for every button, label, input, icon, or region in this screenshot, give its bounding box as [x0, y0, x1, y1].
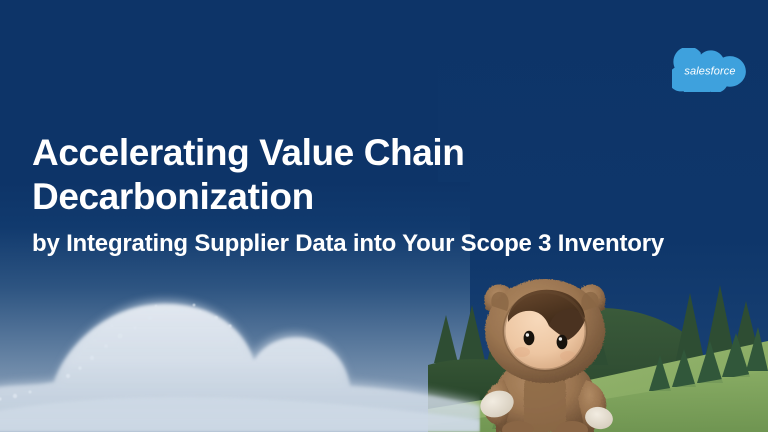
salesforce-wordmark: salesforce [684, 66, 735, 78]
page-title-line-1: Accelerating Value Chain [32, 131, 732, 175]
astro-bear-mascot [452, 276, 638, 432]
page-title-line-2: Decarbonization [32, 175, 732, 219]
presentation-slide: salesforce Accelerating Value Chain Deca… [0, 0, 768, 432]
mist-cloud-bank [0, 272, 480, 432]
salesforce-cloud-logo[interactable]: salesforce [672, 48, 748, 92]
title-block: Accelerating Value Chain Decarbonization… [32, 131, 732, 261]
page-subtitle: by Integrating Supplier Data into Your S… [32, 227, 732, 261]
